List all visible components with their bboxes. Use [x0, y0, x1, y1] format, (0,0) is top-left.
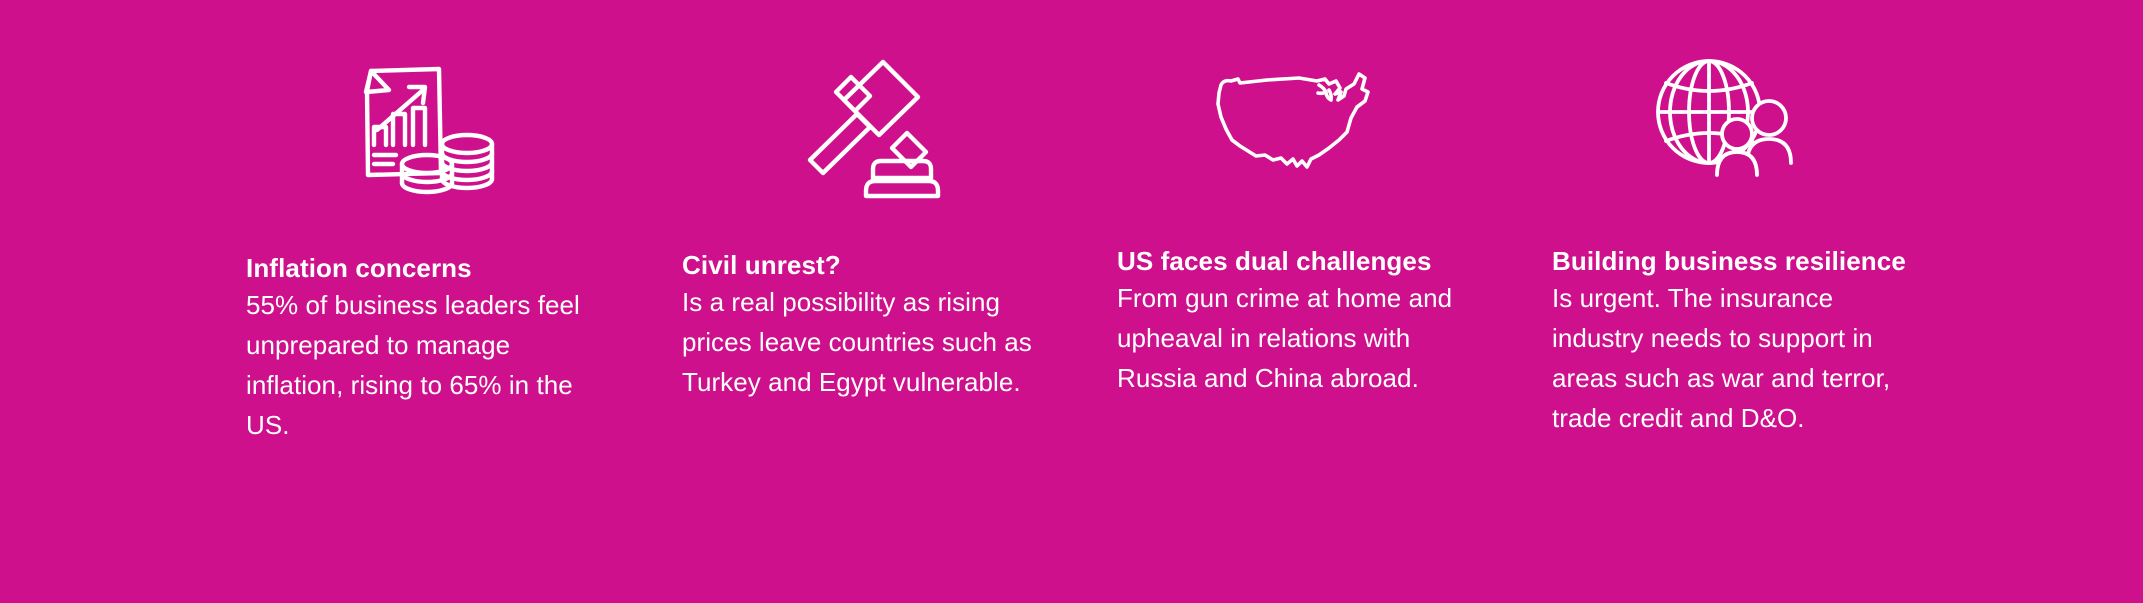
info-card-civil-unrest: Civil unrest? Is a real possibility as r…: [682, 0, 982, 603]
info-card-building-business-resilience: Building business resilience Is urgent. …: [1552, 0, 1882, 603]
card-heading: US faces dual challenges: [1117, 245, 1487, 277]
info-card-inflation-concerns: Inflation concerns 55% of business leade…: [246, 0, 546, 603]
globe-people-icon: [1647, 50, 1802, 180]
card-heading: Inflation concerns: [246, 252, 614, 284]
card-body: From gun crime at home and upheaval in r…: [1117, 278, 1487, 398]
infographic-panel: Inflation concerns 55% of business leade…: [0, 0, 2143, 603]
card-text-building-business-resilience: Building business resilience Is urgent. …: [1552, 245, 1912, 438]
card-body: Is urgent. The insurance industry needs …: [1552, 278, 1912, 438]
card-text-civil-unrest: Civil unrest? Is a real possibility as r…: [682, 249, 1032, 402]
info-card-us-dual-challenges: US faces dual challenges From gun crime …: [1117, 0, 1447, 603]
card-heading: Building business resilience: [1552, 245, 1912, 277]
chart-document-coins-icon: [341, 42, 511, 202]
us-map-icon: [1207, 60, 1382, 175]
card-heading: Civil unrest?: [682, 249, 1032, 281]
card-text-inflation-concerns: Inflation concerns 55% of business leade…: [246, 252, 614, 445]
card-body: 55% of business leaders feel unprepared …: [246, 285, 614, 445]
card-body: Is a real possibility as rising prices l…: [682, 282, 1032, 402]
gavel-icon: [787, 48, 947, 198]
card-text-us-dual-challenges: US faces dual challenges From gun crime …: [1117, 245, 1487, 398]
